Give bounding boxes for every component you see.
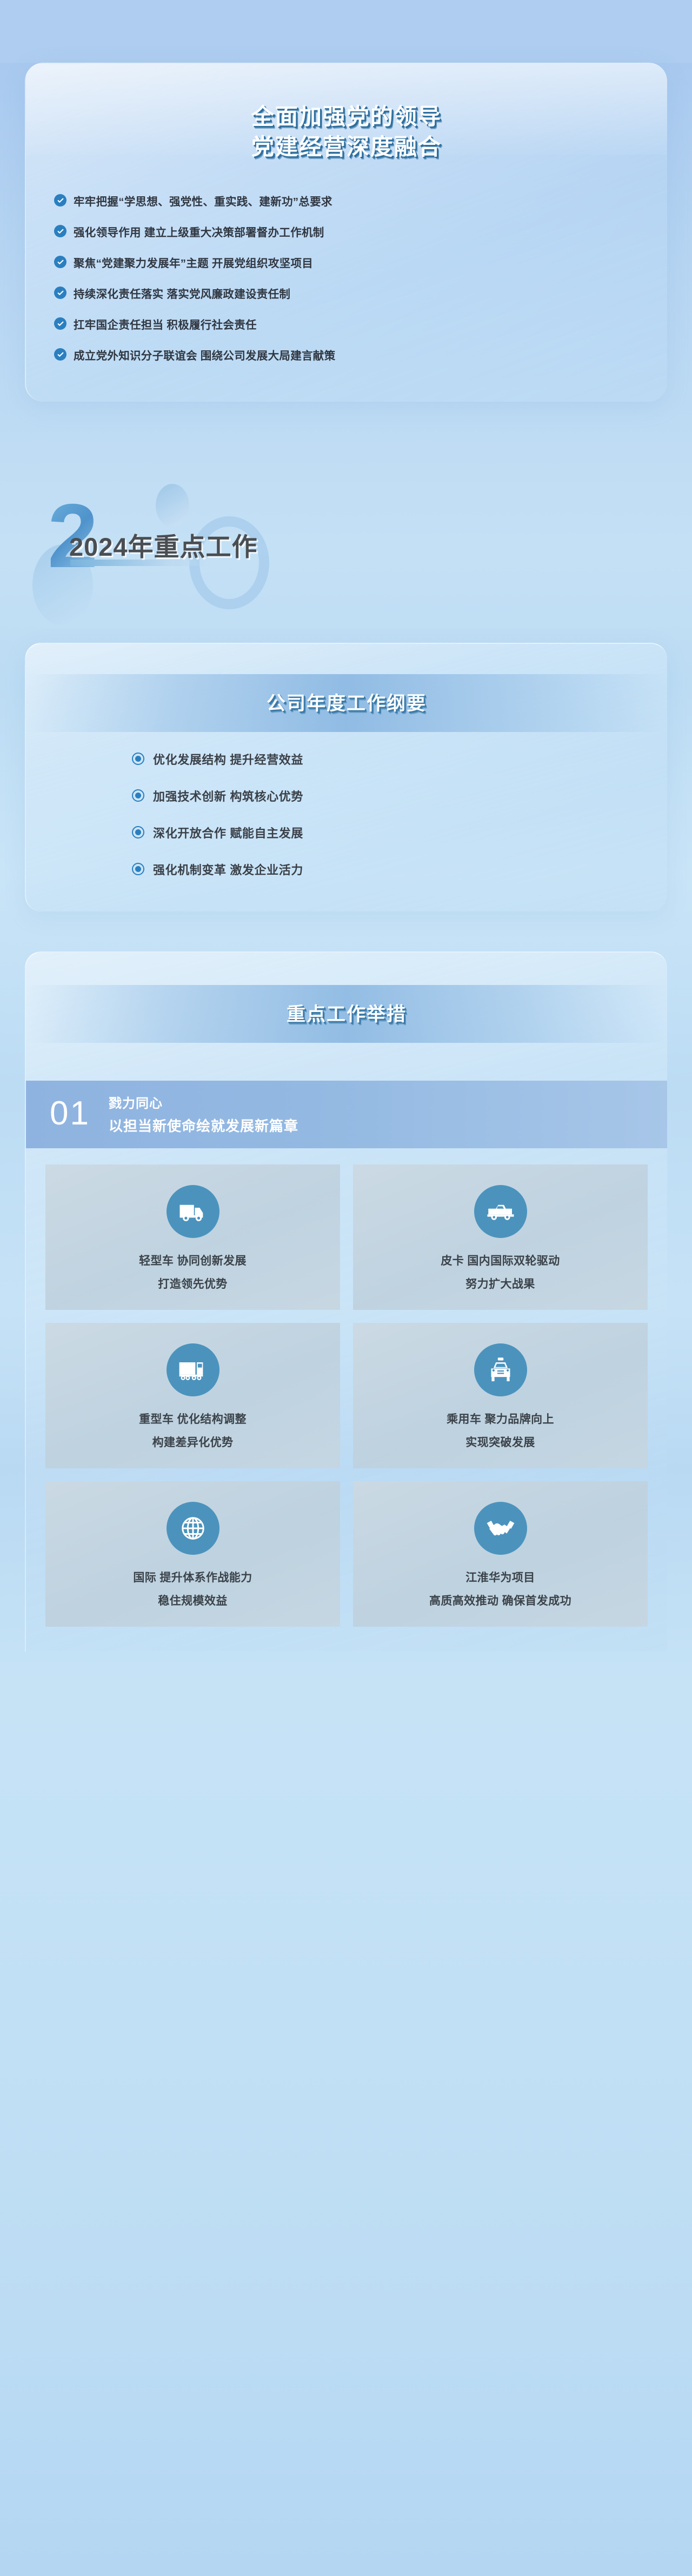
list-item: 牢牢把握“学思想、强党性、重实践、建新功”总要求	[54, 192, 643, 209]
pickup-truck-icon	[474, 1185, 527, 1238]
list-item: 优化发展结构 提升经营效益	[132, 750, 667, 768]
measure-card-grid: 轻型车 协同创新发展 打造领先优势	[26, 1148, 667, 1652]
list-item: 扛牢国企责任担当 积极履行社会责任	[54, 316, 643, 332]
globe-icon	[167, 1502, 219, 1555]
measure-card-line-1: 皮卡 国内国际双轮驱动	[441, 1252, 560, 1268]
light-truck-icon	[167, 1185, 219, 1238]
list-item-label: 扛牢国企责任担当 积极履行社会责任	[74, 316, 257, 332]
list-item: 聚焦“党建聚力发展年”主题 开展党组织攻坚项目	[54, 254, 643, 270]
key-measures-title-band: 重点工作举措	[26, 985, 667, 1043]
measure-card[interactable]: 江淮华为项目 高质高效推动 确保首发成功	[353, 1481, 648, 1627]
handshake-icon	[474, 1502, 527, 1555]
check-circle-icon	[54, 225, 66, 237]
key-measures-title: 重点工作举措	[287, 1004, 407, 1025]
check-circle-icon	[54, 194, 66, 207]
list-item-label: 聚焦“党建聚力发展年”主题 开展党组织攻坚项目	[74, 254, 313, 270]
section-2-title: 2024年重点工作	[69, 526, 258, 563]
measure-card[interactable]: 皮卡 国内国际双轮驱动 努力扩大战果	[353, 1164, 648, 1310]
check-circle-icon	[54, 348, 66, 361]
check-circle-icon	[54, 256, 66, 268]
measure-card-line-1: 乘用车 聚力品牌向上	[447, 1410, 554, 1427]
list-item-label: 深化开放合作 赋能自主发展	[153, 824, 303, 841]
list-item: 强化领导作用 建立上级重大决策部署督办工作机制	[54, 223, 643, 239]
measure-group-number: 01	[50, 1097, 90, 1130]
ring-dot-icon	[132, 863, 144, 875]
ring-dot-icon	[132, 753, 144, 765]
annual-outline-title-band: 公司年度工作纲要	[26, 674, 667, 732]
measure-group-headline: 戮力同心	[109, 1093, 298, 1111]
measure-card[interactable]: 国际 提升体系作战能力 稳住规模效益	[45, 1481, 340, 1627]
list-item-label: 牢牢把握“学思想、强党性、重实践、建新功”总要求	[74, 192, 332, 209]
ring-dot-icon	[132, 789, 144, 802]
measure-card-line-2: 打造领先优势	[139, 1275, 247, 1292]
measure-card[interactable]: 轻型车 协同创新发展 打造领先优势	[45, 1164, 340, 1310]
measure-group-subheadline: 以担当新使命绘就发展新篇章	[109, 1115, 298, 1135]
measure-card-line-2: 努力扩大战果	[441, 1275, 560, 1292]
measure-card[interactable]: 重型车 优化结构调整 构建差异化优势	[45, 1323, 340, 1468]
heavy-truck-icon	[167, 1343, 219, 1396]
measure-card-line-2: 构建差异化优势	[139, 1434, 247, 1450]
party-leadership-panel: 全面加强党的领导 党建经营深度融合 牢牢把握“学思想、强党性、重实践、建新功”总…	[25, 63, 667, 402]
list-item: 持续深化责任落实 落实党风廉政建设责任制	[54, 285, 643, 301]
party-leadership-list: 牢牢把握“学思想、强党性、重实践、建新功”总要求 强化领导作用 建立上级重大决策…	[26, 192, 667, 363]
list-item-label: 强化领导作用 建立上级重大决策部署督办工作机制	[74, 223, 324, 239]
measure-card[interactable]: 乘用车 聚力品牌向上 实现突破发展	[353, 1323, 648, 1468]
list-item: 强化机制变革 激发企业活力	[132, 861, 667, 878]
list-item-label: 加强技术创新 构筑核心优势	[153, 787, 303, 804]
check-circle-icon	[54, 317, 66, 330]
list-item-label: 优化发展结构 提升经营效益	[153, 750, 303, 768]
passenger-car-icon	[474, 1343, 527, 1396]
measure-card-line-1: 重型车 优化结构调整	[139, 1410, 247, 1427]
list-item: 深化开放合作 赋能自主发展	[132, 824, 667, 841]
page-title: 全面加强党的领导 党建经营深度融合	[26, 102, 667, 162]
list-item-label: 持续深化责任落实 落实党风廉政建设责任制	[74, 285, 290, 301]
decorative-small-ellipse-icon	[156, 484, 189, 527]
list-item: 成立党外知识分子联谊会 围绕公司发展大局建言献策	[54, 347, 643, 363]
measure-card-line-2: 稳住规模效益	[133, 1592, 252, 1608]
hero-title-line-1: 全面加强党的领导	[26, 102, 667, 132]
annual-outline-panel: 公司年度工作纲要 优化发展结构 提升经营效益 加强技术创新 构筑核心优势 深化开…	[25, 643, 667, 911]
measure-group-band-01: 01 戮力同心 以担当新使命绘就发展新篇章	[26, 1081, 667, 1148]
list-item-label: 强化机制变革 激发企业活力	[153, 861, 303, 878]
measure-card-line-1: 国际 提升体系作战能力	[133, 1569, 252, 1585]
poster-page: 全面加强党的领导 党建经营深度融合 牢牢把握“学思想、强党性、重实践、建新功”总…	[0, 63, 692, 1652]
annual-outline-list: 优化发展结构 提升经营效益 加强技术创新 构筑核心优势 深化开放合作 赋能自主发…	[26, 750, 667, 878]
check-circle-icon	[54, 287, 66, 299]
section-2-header: 2 2024年重点工作	[0, 442, 692, 609]
measure-card-line-1: 轻型车 协同创新发展	[139, 1252, 247, 1268]
key-measures-panel: 重点工作举措 01 戮力同心 以担当新使命绘就发展新篇章	[25, 951, 667, 1652]
list-item: 加强技术创新 构筑核心优势	[132, 787, 667, 804]
hero-title-line-2: 党建经营深度融合	[26, 132, 667, 162]
list-item-label: 成立党外知识分子联谊会 围绕公司发展大局建言献策	[74, 347, 335, 363]
measure-card-line-2: 高质高效推动 确保首发成功	[429, 1592, 571, 1608]
ring-dot-icon	[132, 826, 144, 838]
measure-card-line-2: 实现突破发展	[447, 1434, 554, 1450]
annual-outline-title: 公司年度工作纲要	[267, 693, 427, 714]
measure-card-line-1: 江淮华为项目	[429, 1569, 571, 1585]
